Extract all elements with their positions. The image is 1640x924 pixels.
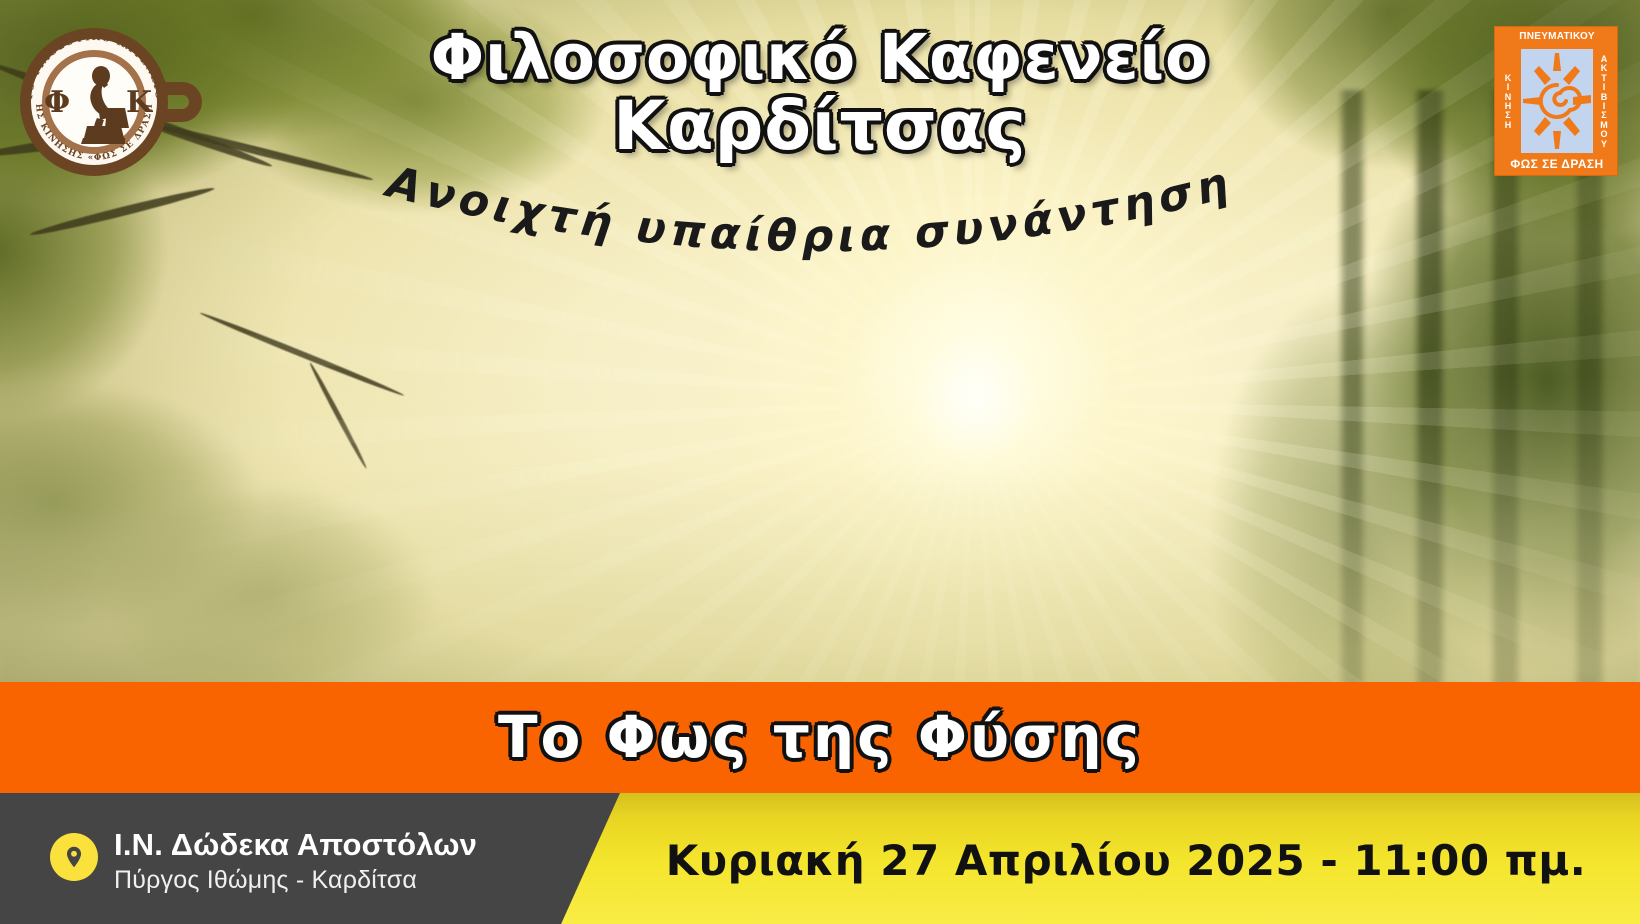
- branch-4: [199, 310, 405, 398]
- logo-sun-panel: [1521, 49, 1593, 153]
- poster-title: Φιλοσοφικό Καφενείο Καρδίτσας: [0, 26, 1640, 162]
- venue-info: Ι.Ν. Δώδεκα Αποστόλων Πύργος Ιθώμης - Κα…: [114, 827, 594, 895]
- date-panel: Κυριακή 27 Απριλίου 2025 - 11:00 πμ.: [620, 793, 1640, 924]
- logo-top-label: ΠΝΕΥΜΑΤΙΚΟΥ: [1495, 31, 1619, 42]
- branch-3: [29, 184, 216, 239]
- spiritual-activism-movement-logo: ΠΝΕΥΜΑΤΙΚΟΥ ΚΙΝΗΣΗ ΑΚΤΙΒΙΣΜΟΥ: [1494, 26, 1618, 176]
- logo-right-label: ΑΚΤΙΒΙΣΜΟΥ: [1593, 47, 1615, 157]
- venue-name: Ι.Ν. Δώδεκα Αποστόλων: [114, 827, 594, 863]
- poster-title-line1: Φιλοσοφικό Καφενείο: [431, 21, 1210, 94]
- foliage-right: [1200, 120, 1640, 720]
- philosophical-cafe-logo: ΤΟ ΦΙΛΟΣΟΦΙΚΟ ΚΑΦΕΝΕΙΟ ΤΗΣ ΚΙΝΗΣΗΣ «ΦΩΣ …: [14, 22, 194, 182]
- theme-banner-label: Το Φως της Φύσης: [498, 703, 1142, 771]
- event-date-time: Κυριακή 27 Απριλίου 2025 - 11:00 πμ.: [666, 836, 1587, 885]
- venue-location: Πύργος Ιθώμης - Καρδίτσα: [114, 865, 594, 895]
- poster-title-block: Φιλοσοφικό Καφενείο Καρδίτσας: [0, 26, 1640, 162]
- theme-banner: Το Φως της Φύσης: [0, 682, 1640, 793]
- poster-title-line2: Καρδίτσας: [0, 92, 1640, 161]
- logo-bottom-label: ΦΩΣ ΣΕ ΔΡΑΣΗ: [1495, 157, 1619, 171]
- poster-footer: Ι.Ν. Δώδεκα Αποστόλων Πύργος Ιθώμης - Κα…: [0, 793, 1640, 924]
- tree-trunks-right: [1220, 90, 1640, 710]
- logo-left-label: ΚΙΝΗΣΗ: [1497, 47, 1519, 157]
- the-thinker-statue-icon: [67, 56, 141, 146]
- sun-spiral-icon: [1521, 49, 1593, 153]
- event-poster: ΤΟ ΦΙΛΟΣΟΦΙΚΟ ΚΑΦΕΝΕΙΟ ΤΗΣ ΚΙΝΗΣΗΣ «ΦΩΣ …: [0, 0, 1640, 924]
- branch-5: [308, 361, 369, 469]
- foliage-left-lower: [0, 330, 540, 710]
- map-pin-icon: [50, 833, 98, 881]
- map-pin-glyph: [61, 844, 87, 870]
